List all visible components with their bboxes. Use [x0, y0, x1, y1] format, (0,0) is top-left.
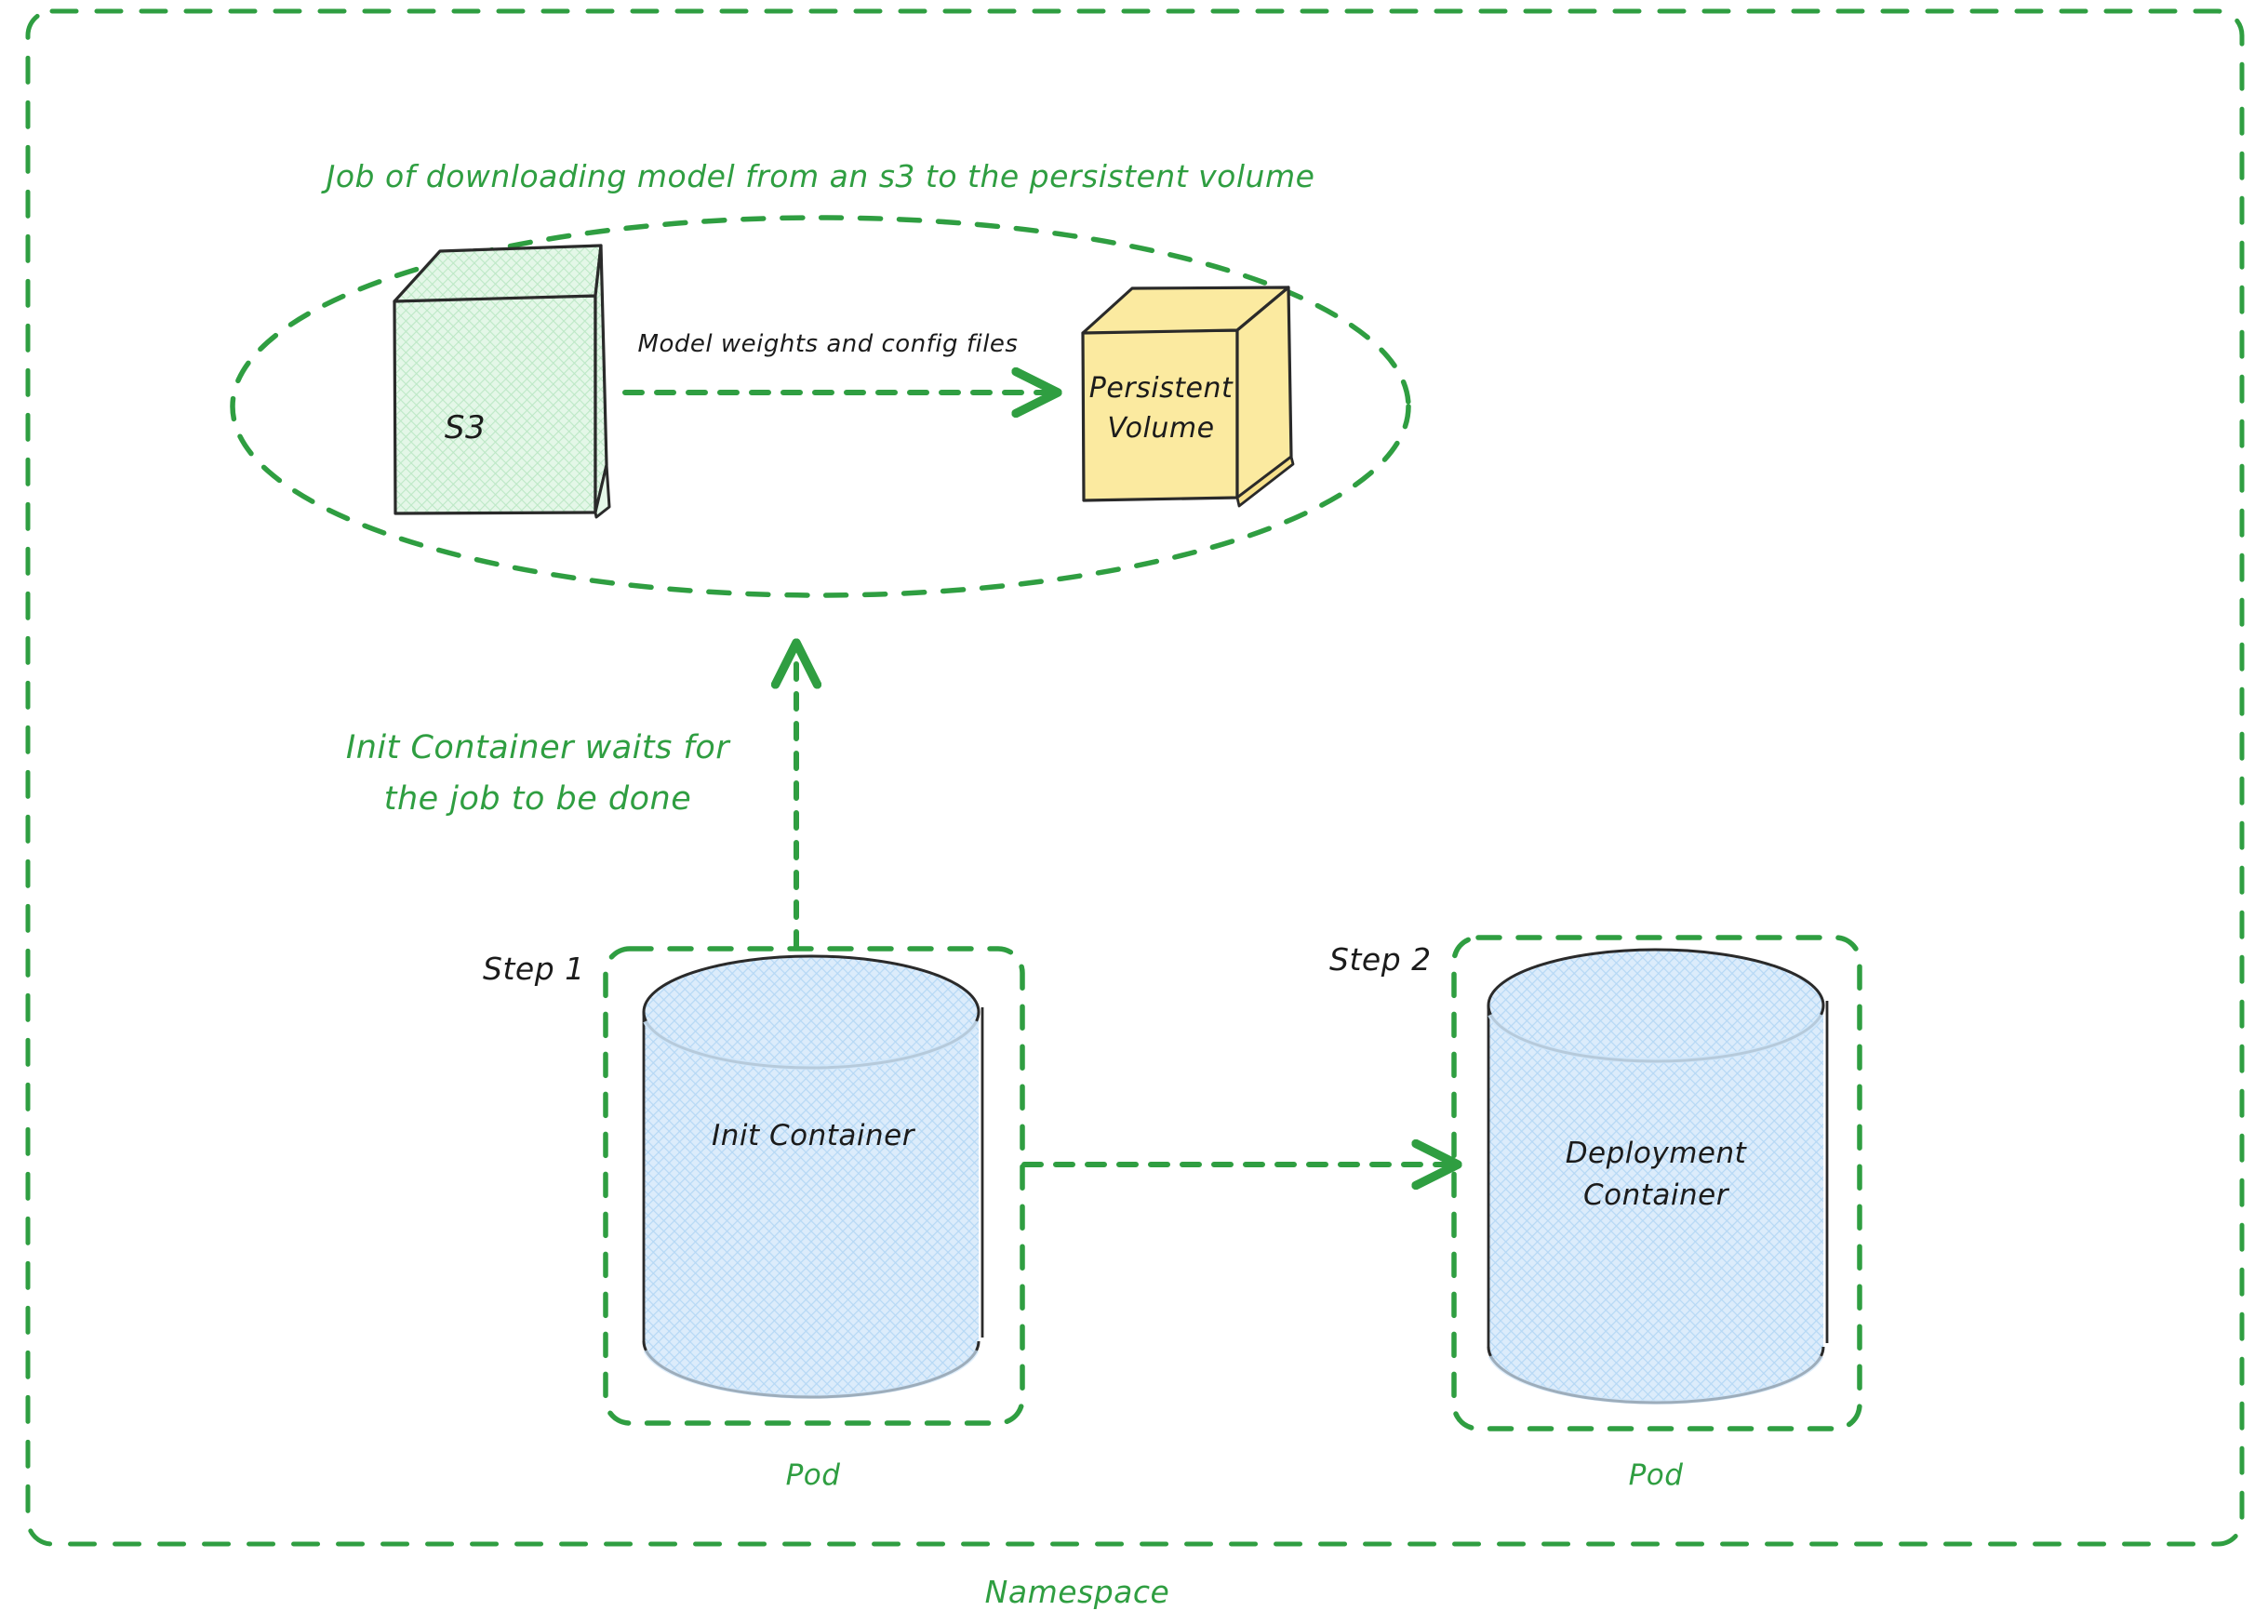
job-group-title: Job of downloading model from an s3 to t…	[327, 158, 1315, 195]
persistent-volume-label-line1: Persistent	[1089, 372, 1233, 406]
s3-label: S3	[445, 409, 486, 447]
init-container-cylinder	[644, 956, 982, 1397]
deployment-container-cylinder	[1488, 950, 1827, 1403]
pod-1-label: Pod	[786, 1458, 841, 1494]
persistent-volume-label-line2: Volume	[1107, 412, 1214, 446]
namespace-boundary	[28, 11, 2242, 1544]
edge-label-init-waits-line1: Init Container waits for	[346, 728, 729, 768]
init-container-label: Init Container	[712, 1119, 914, 1154]
diagram-canvas: Job of downloading model from an s3 to t…	[0, 0, 2268, 1624]
step-2-label: Step 2	[1329, 941, 1432, 978]
diagram-vector-layer	[0, 0, 2268, 1624]
namespace-label: Namespace	[985, 1574, 1170, 1611]
pod-2-label: Pod	[1629, 1458, 1684, 1494]
deployment-container-label-line1: Deployment	[1566, 1137, 1747, 1172]
s3-cube	[394, 246, 609, 517]
step-1-label: Step 1	[483, 951, 585, 988]
edge-label-model-weights: Model weights and config files	[638, 330, 1019, 360]
edge-label-init-waits-line2: the job to be done	[384, 779, 692, 819]
deployment-container-label-line2: Container	[1583, 1178, 1728, 1214]
